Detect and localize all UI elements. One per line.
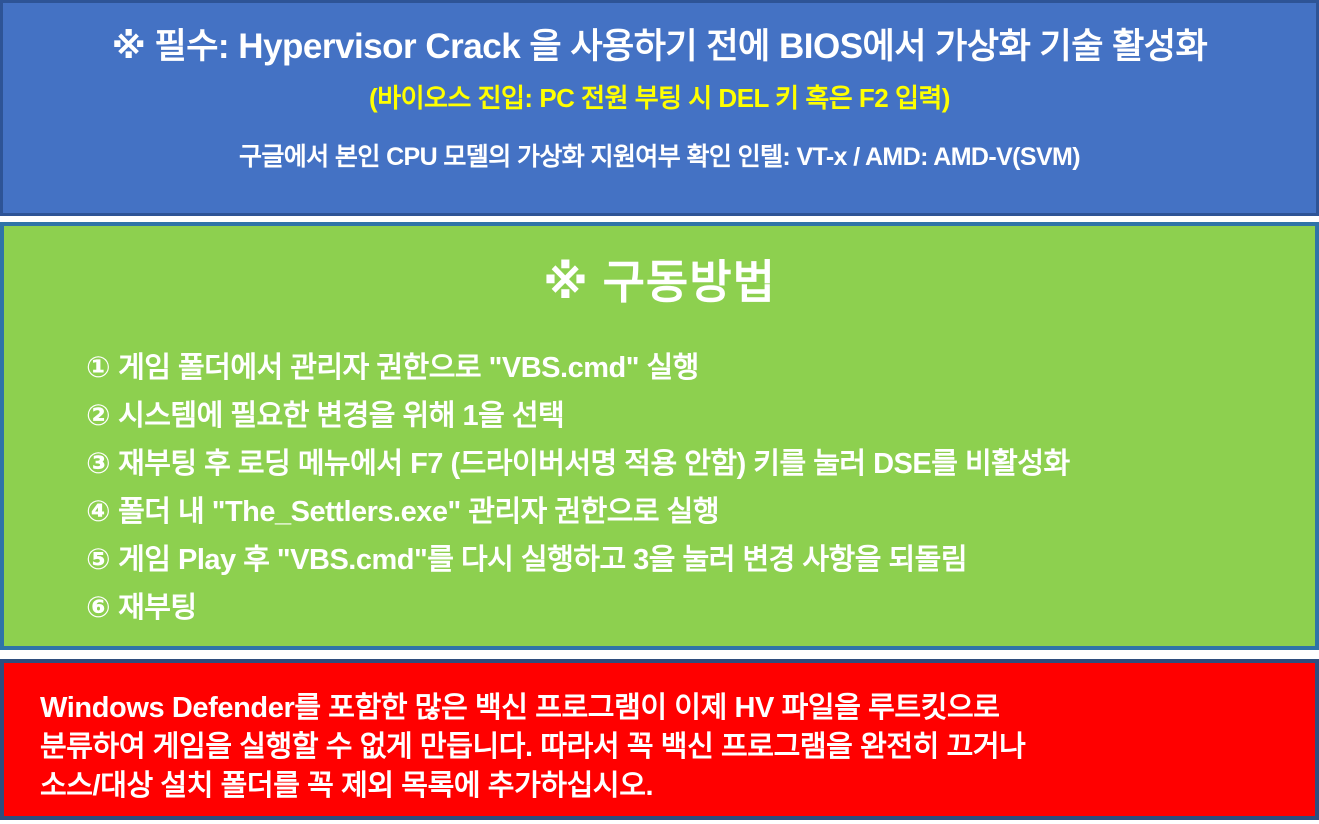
step-text: 재부팅 [118,592,197,624]
list-item: ④폴더 내 "The_Settlers.exe" 관리자 권한으로 실행 [4,488,1315,536]
step-text: 게임 Play 후 "VBS.cmd"를 다시 실행하고 3을 눌러 변경 사항… [118,544,967,576]
steps-list: ①게임 폴더에서 관리자 권한으로 "VBS.cmd" 실행 ②시스템에 필요한… [4,344,1315,632]
step-text: 시스템에 필요한 변경을 위해 1을 선택 [118,400,564,432]
step-text: 게임 폴더에서 관리자 권한으로 "VBS.cmd" 실행 [118,352,699,384]
bios-requirement-banner: ※ 필수: Hypervisor Crack 을 사용하기 전에 BIOS에서 … [0,0,1319,216]
how-to-run-title: ※ 구동방법 [4,254,1315,310]
step-marker: ⑤ [86,536,110,584]
antivirus-warning-line-2: 분류하여 게임을 실행할 수 없게 만듭니다. 따라서 꼭 백신 프로그램을 완… [40,728,1293,767]
list-item: ⑤게임 Play 후 "VBS.cmd"를 다시 실행하고 3을 눌러 변경 사… [4,536,1315,584]
list-item: ⑥재부팅 [4,584,1315,632]
list-item: ①게임 폴더에서 관리자 권한으로 "VBS.cmd" 실행 [4,344,1315,392]
step-text: 폴더 내 "The_Settlers.exe" 관리자 권한으로 실행 [118,496,719,528]
list-item: ③재부팅 후 로딩 메뉴에서 F7 (드라이버서명 적용 안함) 키를 눌러 D… [4,440,1315,488]
step-text: 재부팅 후 로딩 메뉴에서 F7 (드라이버서명 적용 안함) 키를 눌러 DS… [118,448,1070,480]
antivirus-warning-banner: Windows Defender를 포함한 많은 백신 프로그램이 이제 HV … [0,659,1319,820]
bios-entry-hint: (바이오스 진입: PC 전원 부팅 시 DEL 키 혹은 F2 입력) [369,81,950,115]
antivirus-warning-line-1: Windows Defender를 포함한 많은 백신 프로그램이 이제 HV … [40,689,1293,728]
step-marker: ⑥ [86,584,110,632]
how-to-run-section: ※ 구동방법 ①게임 폴더에서 관리자 권한으로 "VBS.cmd" 실행 ②시… [0,222,1319,650]
antivirus-warning-line-3: 소스/대상 설치 폴더를 꼭 제외 목록에 추가하십시오. [40,767,1293,806]
step-marker: ④ [86,488,110,536]
list-item: ②시스템에 필요한 변경을 위해 1을 선택 [4,392,1315,440]
step-marker: ① [86,344,110,392]
step-marker: ③ [86,440,110,488]
step-marker: ② [86,392,110,440]
instruction-poster: ※ 필수: Hypervisor Crack 을 사용하기 전에 BIOS에서 … [0,0,1319,824]
bios-requirement-headline: ※ 필수: Hypervisor Crack 을 사용하기 전에 BIOS에서 … [112,25,1207,69]
cpu-virtualization-check-note: 구글에서 본인 CPU 모델의 가상화 지원여부 확인 인텔: VT-x / A… [239,141,1080,173]
